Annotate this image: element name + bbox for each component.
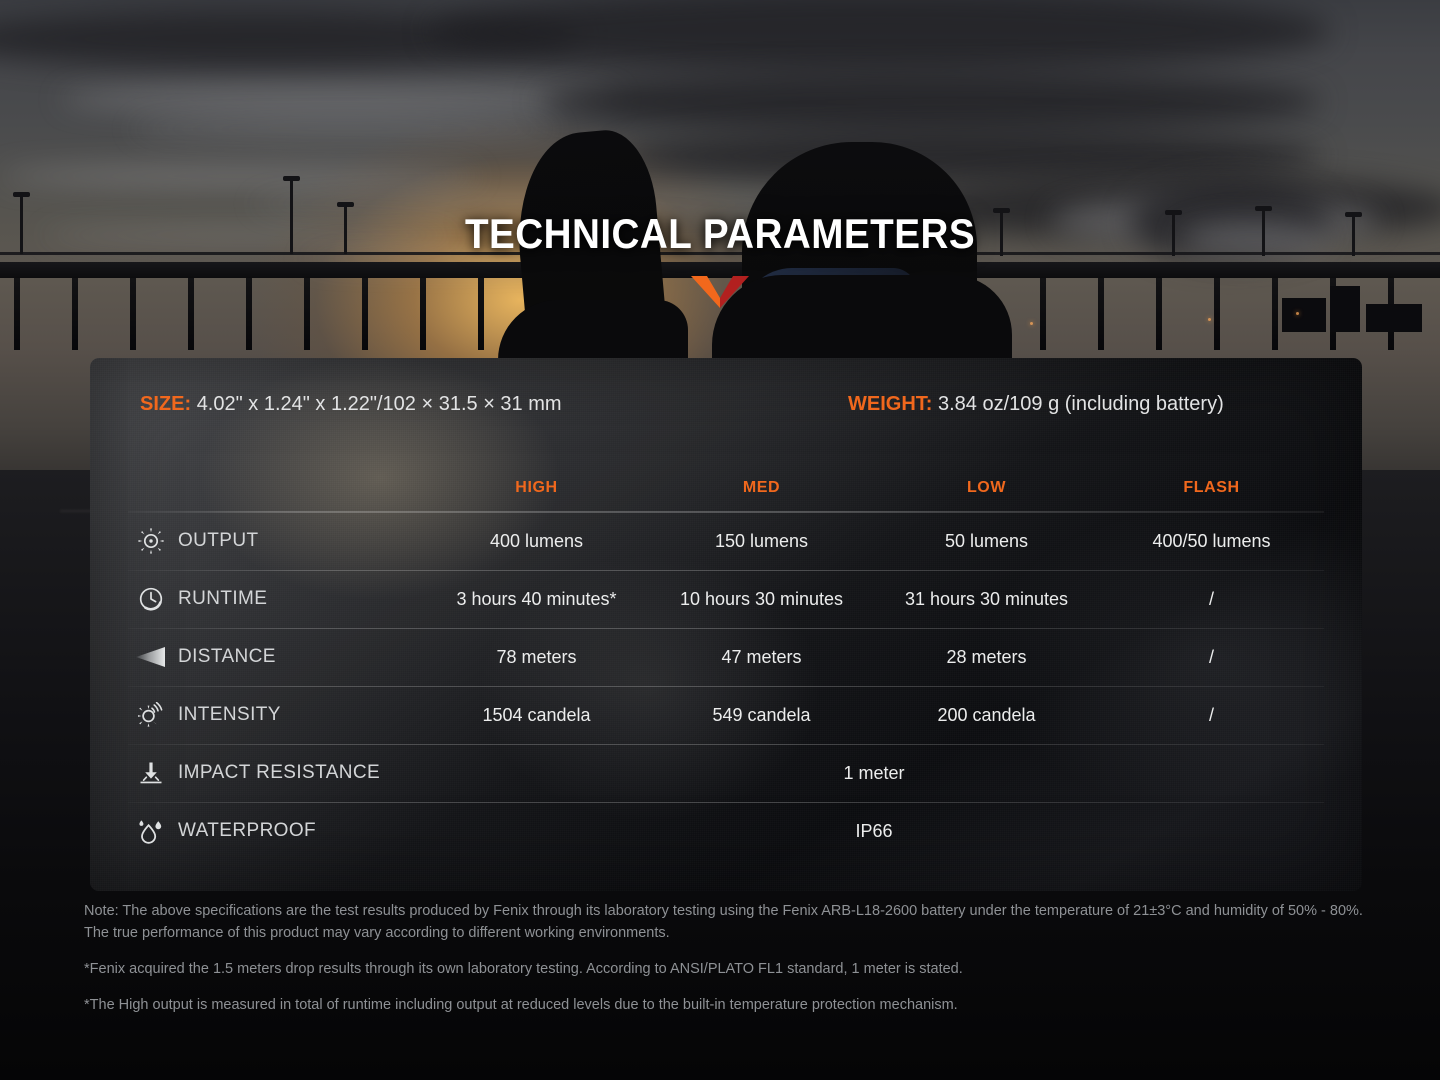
technical-parameters-panel: SIZE: 4.02" x 1.24" x 1.22"/102 × 31.5 ×…: [90, 358, 1362, 891]
cell-low: 31 hours 30 minutes: [874, 589, 1099, 610]
spec-table: HIGH MED LOW FLASH: [128, 464, 1324, 860]
cell-flash: /: [1099, 647, 1324, 668]
cell-waterproof-value: IP66: [424, 821, 1324, 842]
row-label: RUNTIME: [178, 588, 267, 610]
table-row: RUNTIME 3 hours 40 minutes* 10 hours 30 …: [128, 570, 1324, 628]
table-row: DISTANCE 78 meters 47 meters 28 meters /: [128, 628, 1324, 686]
page-title: TECHNICAL PARAMETERS: [58, 210, 1383, 258]
row-label-cell: DISTANCE: [128, 642, 424, 672]
cell-flash: /: [1099, 589, 1324, 610]
cell-high: 78 meters: [424, 647, 649, 668]
row-label: DISTANCE: [178, 646, 276, 668]
cell-low: 50 lumens: [874, 531, 1099, 552]
city-light: [1030, 322, 1033, 325]
row-label: INTENSITY: [178, 704, 281, 726]
row-label: WATERPROOF: [178, 820, 316, 842]
cell-high: 3 hours 40 minutes*: [424, 589, 649, 610]
column-header-flash: FLASH: [1099, 479, 1324, 497]
row-label-cell: RUNTIME: [128, 584, 424, 614]
hero-title-block: TECHNICAL PARAMETERS: [0, 210, 1440, 308]
cloud-streak: [540, 72, 1320, 132]
footnote-2: *Fenix acquired the 1.5 meters drop resu…: [84, 958, 1374, 980]
table-row: IMPACT RESISTANCE 1 meter: [128, 744, 1324, 802]
footnote-3: *The High output is measured in total of…: [84, 994, 1374, 1016]
footnotes: Note: The above specifications are the t…: [84, 900, 1374, 1016]
weight-spec: WEIGHT: 3.84 oz/109 g (including battery…: [848, 386, 1224, 422]
table-row: OUTPUT 400 lumens 150 lumens 50 lumens 4…: [128, 512, 1324, 570]
cloud-streak: [0, 166, 480, 186]
city-building: [1366, 304, 1422, 332]
cell-flash: 400/50 lumens: [1099, 531, 1324, 552]
column-header-high: HIGH: [424, 479, 649, 497]
row-label: IMPACT RESISTANCE: [178, 762, 380, 784]
size-spec: SIZE: 4.02" x 1.24" x 1.22"/102 × 31.5 ×…: [140, 386, 562, 422]
cell-med: 150 lumens: [649, 531, 874, 552]
table-row: INTENSITY 1504 candela 549 candela 200 c…: [128, 686, 1324, 744]
weight-label: WEIGHT:: [848, 393, 932, 415]
row-label-cell: IMPACT RESISTANCE: [128, 758, 424, 788]
cell-low: 200 candela: [874, 705, 1099, 726]
city-light: [1208, 318, 1211, 321]
cell-med: 549 candela: [649, 705, 874, 726]
cell-med: 10 hours 30 minutes: [649, 589, 874, 610]
size-label: SIZE:: [140, 393, 191, 415]
cell-low: 28 meters: [874, 647, 1099, 668]
column-header-med: MED: [649, 479, 874, 497]
chevron-down-divider-icon: [691, 276, 749, 308]
light-intensity-icon: [136, 700, 166, 730]
impact-arrow-icon: [136, 758, 166, 788]
cloud-streak: [60, 86, 620, 112]
row-label-cell: WATERPROOF: [128, 816, 424, 846]
city-light: [1296, 312, 1299, 315]
size-value: 4.02" x 1.24" x 1.22"/102 × 31.5 × 31 mm: [197, 393, 562, 415]
table-header-row: HIGH MED LOW FLASH: [128, 464, 1324, 512]
row-label-cell: INTENSITY: [128, 700, 424, 730]
cell-high: 1504 candela: [424, 705, 649, 726]
beam-distance-icon: [136, 642, 166, 672]
table-row: WATERPROOF IP66: [128, 802, 1324, 860]
cloud-streak: [620, 130, 1320, 182]
row-label: OUTPUT: [178, 530, 259, 552]
column-header-low: LOW: [874, 479, 1099, 497]
cell-flash: /: [1099, 705, 1324, 726]
water-drop-icon: [136, 816, 166, 846]
footnote-1: Note: The above specifications are the t…: [84, 900, 1374, 944]
weight-value: 3.84 oz/109 g (including battery): [938, 393, 1224, 415]
row-label-cell: OUTPUT: [128, 526, 424, 556]
cell-high: 400 lumens: [424, 531, 649, 552]
cell-impact-value: 1 meter: [424, 763, 1324, 784]
brightness-sun-icon: [136, 526, 166, 556]
clock-icon: [136, 584, 166, 614]
cell-med: 47 meters: [649, 647, 874, 668]
cloud-streak: [130, 120, 560, 138]
size-weight-row: SIZE: 4.02" x 1.24" x 1.22"/102 × 31.5 ×…: [90, 386, 1362, 422]
